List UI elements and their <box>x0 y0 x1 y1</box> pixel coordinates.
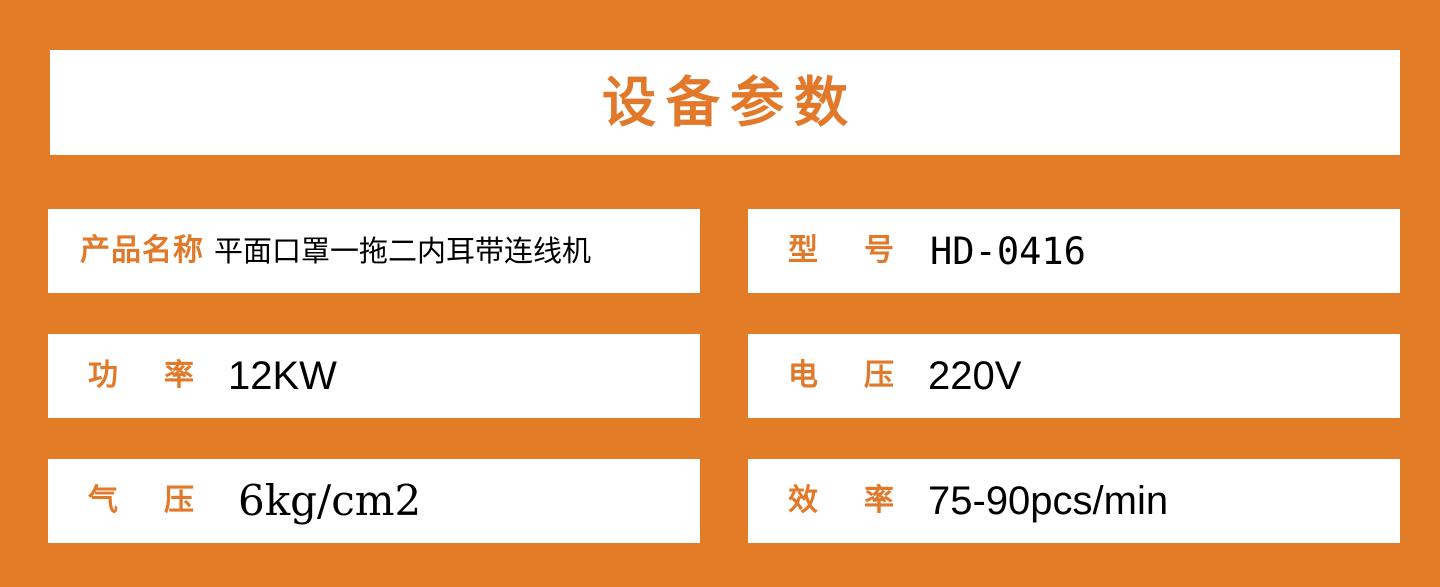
spec-label-efficiency: 效率 <box>788 486 940 516</box>
spec-cell-voltage: 电压 220V <box>748 334 1400 418</box>
spec-label-model: 型号 <box>788 236 940 266</box>
spec-label-air-pressure: 气压 <box>88 486 240 516</box>
spec-cell-model: 型号 HD-0416 <box>748 209 1400 293</box>
spec-row: 功率 12KW 电压 220V <box>48 334 1400 418</box>
spec-value-air-pressure: 6kg/cm2 <box>238 480 421 522</box>
spec-row: 产品名称 平面口罩一拖二内耳带连线机 型号 HD-0416 <box>48 209 1400 293</box>
spec-cell-power: 功率 12KW <box>48 334 700 418</box>
spec-label-product-name: 产品名称 <box>80 236 204 266</box>
page-title: 设备参数 <box>592 76 858 130</box>
specification-grid: 产品名称 平面口罩一拖二内耳带连线机 型号 HD-0416 功率 12KW 电压… <box>48 209 1400 543</box>
spec-label-power: 功率 <box>88 361 240 391</box>
spec-cell-product-name: 产品名称 平面口罩一拖二内耳带连线机 <box>48 209 700 293</box>
spec-value-power: 12KW <box>228 356 337 396</box>
spec-value-product-name: 平面口罩一拖二内耳带连线机 <box>214 237 591 266</box>
spec-value-voltage: 220V <box>928 356 1021 396</box>
spec-cell-air-pressure: 气压 6kg/cm2 <box>48 459 700 543</box>
spec-cell-efficiency: 效率 75-90pcs/min <box>748 459 1400 543</box>
spec-value-model: HD-0416 <box>930 233 1086 270</box>
spec-label-voltage: 电压 <box>788 361 940 391</box>
title-banner: 设备参数 <box>50 50 1400 155</box>
spec-value-efficiency: 75-90pcs/min <box>928 481 1168 521</box>
equipment-spec-sheet: 设备参数 产品名称 平面口罩一拖二内耳带连线机 型号 HD-0416 功率 12… <box>0 0 1440 587</box>
spec-row: 气压 6kg/cm2 效率 75-90pcs/min <box>48 459 1400 543</box>
